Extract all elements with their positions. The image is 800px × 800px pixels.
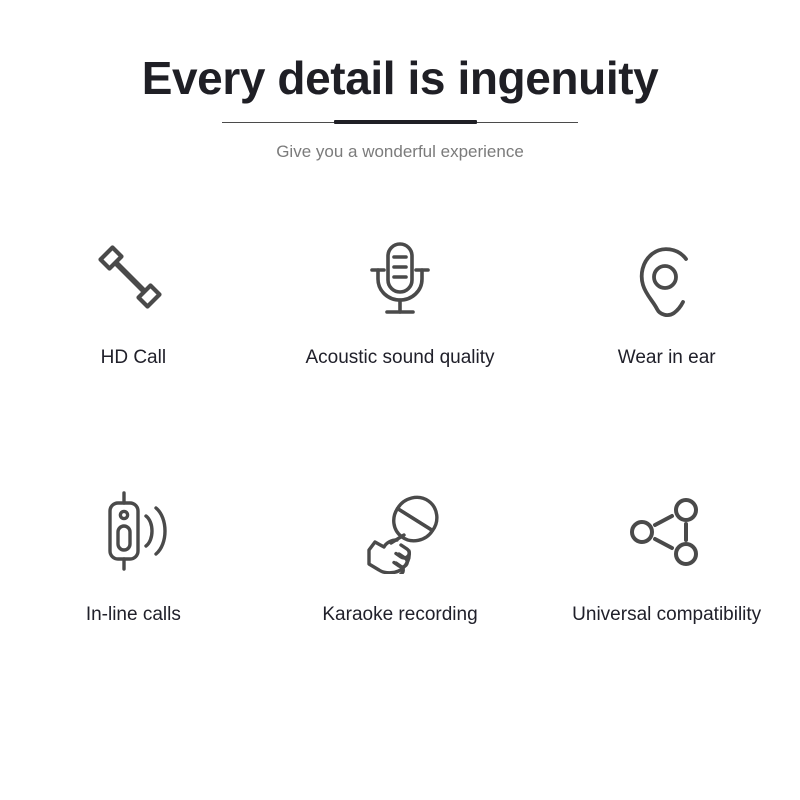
ear-with-earbud-icon [617,232,717,328]
feature-item-in-line-calls: In-line calls [0,483,267,624]
inline-remote-control-icon [83,483,183,579]
feature-grid: HD Call Acous [0,232,800,624]
page-subtitle: Give you a wonderful experience [0,142,800,162]
divider-accent-bar [334,120,477,124]
feature-label: In-line calls [86,605,181,624]
feature-row: HD Call Acous [0,232,800,367]
feature-label: Acoustic sound quality [305,348,494,367]
feature-label: Wear in ear [618,348,716,367]
hand-holding-microphone-icon [350,483,450,579]
feature-item-universal-compatibility: Universal compatibility [533,483,800,624]
feature-item-wear-in-ear: Wear in ear [533,232,800,367]
feature-label: Karaoke recording [322,605,477,624]
page-header: Every detail is ingenuity Give you a won… [0,0,800,162]
feature-label: Universal compatibility [572,605,761,624]
phone-handset-icon [83,232,183,328]
page-title: Every detail is ingenuity [0,54,800,102]
feature-row: In-line calls Karaoke recording [0,483,800,624]
feature-item-karaoke-recording: Karaoke recording [267,483,534,624]
microphone-icon [350,232,450,328]
share-network-icon [617,483,717,579]
feature-label: HD Call [101,348,166,367]
feature-item-acoustic-sound-quality: Acoustic sound quality [267,232,534,367]
feature-highlight-page: Every detail is ingenuity Give you a won… [0,0,800,800]
feature-item-hd-call: HD Call [0,232,267,367]
title-divider [222,118,578,128]
